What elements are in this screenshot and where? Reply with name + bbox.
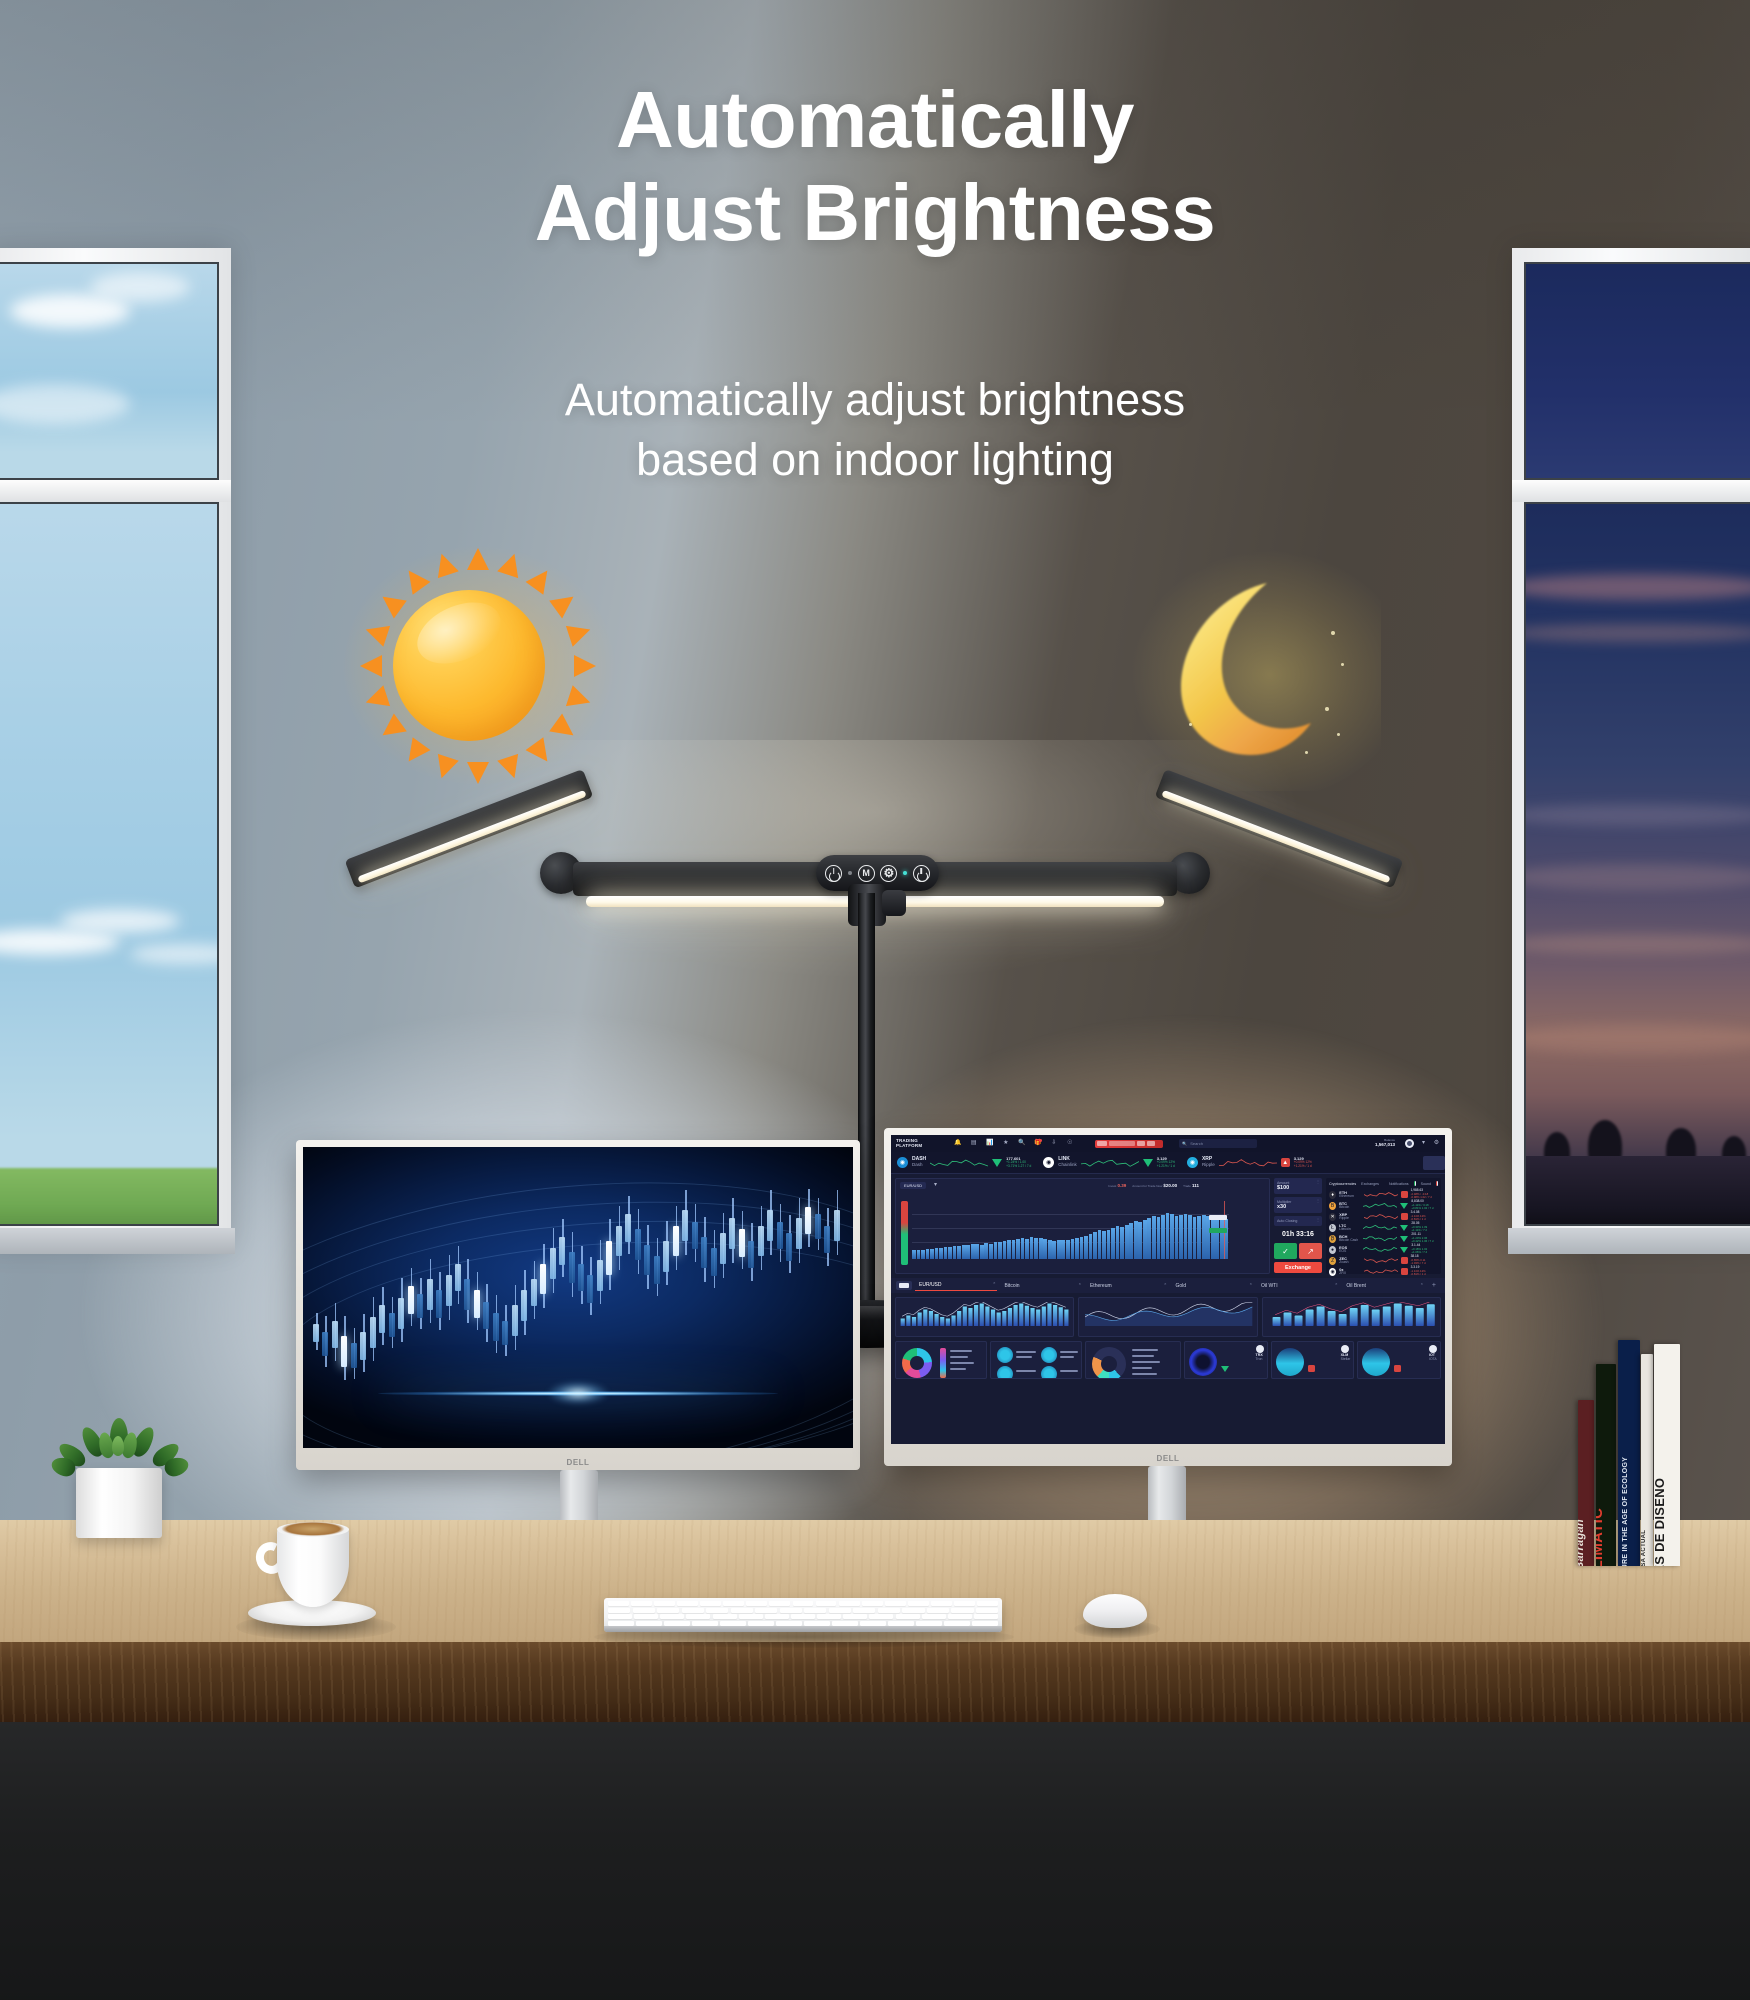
candle-body [758,1226,764,1257]
candle-body [739,1229,745,1257]
ticker-xrp[interactable]: ◉XRPRipple▲3.129+0.09% 12%+1.21% / 1 d [1181,1152,1318,1173]
keyboard-keys [608,1601,998,1625]
candle-body [701,1237,707,1268]
candle-body [625,1214,631,1242]
close-icon[interactable]: × [1079,1281,1081,1286]
widget-donut-breakdown [1085,1341,1181,1379]
keyboard-key[interactable] [976,1608,998,1613]
candle-body [370,1317,376,1348]
keyboard-key[interactable] [931,1601,952,1606]
area-bar [1184,1214,1188,1259]
area-bar [1089,1234,1093,1259]
sound-toggle[interactable] [1436,1181,1438,1186]
keyboard-key[interactable] [817,1614,841,1619]
close-icon[interactable]: × [993,1280,995,1285]
keyboard-key[interactable] [843,1614,867,1619]
candle-body [550,1248,556,1279]
add-tab-button[interactable]: + [1428,1282,1440,1289]
tab-bitcoin[interactable]: Bitcoin× [1000,1281,1082,1291]
coin-values: 1,988.63-2.48% / -0.18-0.98% 1.02 / 7 d [1411,1189,1438,1199]
area-bar [1170,1214,1174,1259]
amount-field[interactable]: ⋮ Amount $100 [1274,1178,1322,1194]
gear-icon[interactable]: ⚙ [1433,1140,1440,1147]
coin-sparkline [1364,1256,1398,1265]
area-bar [1052,1241,1056,1259]
list-item[interactable]: ◉0xZRX3.3.19-1.11% 12%-0.81% / 1 d [1329,1266,1438,1277]
coin-label: 0xZRX [1339,1268,1361,1276]
keyboard-key[interactable] [608,1608,630,1613]
info-icon: ⋮ [1316,1198,1320,1203]
candle-body [663,1241,669,1272]
area-bar [1138,1222,1142,1259]
area-bar [1166,1213,1170,1259]
plant-pot [76,1468,162,1538]
gift-icon[interactable]: 🎁 [1034,1140,1041,1147]
coin-icon: ✕ [1329,1213,1336,1221]
candle-body [635,1229,641,1260]
trend-alert-icon [1401,1257,1407,1264]
candle-body [559,1237,565,1265]
balance-value: 1,567,013 [1375,1143,1395,1148]
keyboard-key[interactable] [769,1601,790,1606]
area-bar [1179,1215,1183,1259]
keyboard-key[interactable] [633,1608,655,1613]
area-bar [980,1245,984,1259]
book-title: Luis Barragán [1578,1519,1586,1566]
candle-body [398,1298,404,1329]
widget-coin-iot: IOT IOTA [1357,1341,1441,1379]
ticker-label: LINKChainlink [1058,1157,1077,1167]
keyboard-key[interactable] [608,1601,629,1606]
candle-body [502,1321,508,1345]
keyboard-key[interactable] [731,1608,753,1613]
keyboard-key[interactable] [723,1601,744,1606]
area-bar [1193,1217,1197,1259]
coin-tile-xlm: XLM Stellar [1341,1345,1351,1361]
keyboard-key[interactable] [608,1614,632,1619]
chevron-down-icon[interactable]: ▾ [1420,1140,1427,1147]
area-bar [1175,1216,1179,1259]
product-marketing-scene: Automatically Adjust Brightness Automati… [0,0,1750,2000]
keyboard-key[interactable] [682,1608,704,1613]
area-bar [989,1244,993,1259]
area-bar [1003,1241,1007,1259]
coin-values: 3.4.08-1.11% 12%-0.81% / 1 d [1411,1211,1438,1221]
coin-values: 38.18-0.65% 0.11-1.03% / 7 d [1411,1255,1438,1265]
keyboard-key[interactable] [878,1608,900,1613]
area-bar [1075,1238,1079,1259]
keyboard-key[interactable] [839,1601,860,1606]
area-bar [962,1245,966,1259]
area-bar [930,1249,934,1259]
candle-body [796,1218,802,1249]
chart-stat-1-label: Invest [1108,1184,1116,1188]
notifications-toggle[interactable] [1414,1181,1416,1186]
candle-body [824,1226,830,1254]
area-bar [957,1246,961,1259]
coin-sparkline [1364,1267,1398,1276]
candle-body [408,1286,414,1314]
app-logo[interactable]: TRADING PLATFORM [896,1139,922,1148]
area-bar [953,1246,957,1259]
keyboard-key[interactable] [631,1601,652,1606]
autoclosing-label: Auto Closing [1277,1219,1319,1223]
coin-name: Tron [1256,1357,1264,1361]
chart-stat-1-value: 0.39 [1117,1183,1126,1188]
tab-oil-brent[interactable]: Oil Brent× [1342,1281,1424,1291]
dusk-ground [1524,1156,1750,1226]
candle-body [446,1275,452,1306]
area-bar [971,1244,975,1259]
chart-icon[interactable]: 📊 [986,1140,993,1147]
candle-body [805,1207,811,1235]
coin-icon: ◉ [1329,1268,1336,1276]
close-icon[interactable]: × [1421,1281,1423,1286]
widget-coin-xlm: XLM Stellar [1271,1341,1355,1379]
tab-oil-wti[interactable]: Oil WTI× [1257,1281,1339,1291]
trend-alert-icon [1401,1213,1407,1220]
close-icon[interactable]: × [1164,1281,1166,1286]
keyboard-key[interactable] [954,1601,975,1606]
area-bar [1016,1239,1020,1259]
star-icon[interactable]: ★ [1002,1140,1009,1147]
buy-button[interactable]: ✓ [1274,1243,1297,1259]
keyboard-key[interactable] [896,1614,920,1619]
widget-line-chart [1078,1297,1257,1337]
keyboard-key[interactable] [780,1608,802,1613]
keyboard-key[interactable] [686,1614,710,1619]
area-bar [1111,1228,1115,1259]
candle-body [455,1264,461,1292]
led-indicator-2 [903,871,907,875]
tab-cryptocurrencies[interactable]: Cryptocurrencies [1329,1182,1356,1186]
coin-label: LTCLitecoin [1339,1224,1360,1232]
keyboard-base [604,1626,1002,1632]
keyboard-key[interactable] [862,1601,883,1606]
close-icon[interactable]: × [1250,1281,1252,1286]
list-item[interactable]: ●EOSEOS3.1.44+0.18% 1.02+1.06% / 7 d [1329,1244,1438,1255]
keyboard-key[interactable] [885,1601,906,1606]
candle-body [767,1210,773,1241]
window-sill-left [0,1228,235,1254]
chart-stat-2-label: Amount for Trade Now [1132,1184,1162,1188]
coin-icon: Z [1329,1257,1336,1265]
coin-tile-iot: IOT IOTA [1429,1345,1437,1361]
sell-button[interactable]: ↗ [1299,1243,1322,1259]
area-bar [975,1244,979,1259]
autoclosing-field[interactable]: ⋮ Auto Closing [1274,1216,1322,1226]
keyboard-key[interactable] [853,1608,875,1613]
ticker-sparkline [1081,1156,1139,1170]
book-spine: INTERIORES DE DISEÑO [1654,1344,1680,1566]
trend-down-icon [1143,1159,1153,1167]
book-spine: LA CASA ACTUAL [1641,1354,1653,1566]
gear-icon[interactable] [880,865,897,882]
coin-icon: B [1329,1202,1336,1210]
keyboard-key[interactable] [902,1608,924,1613]
candlestick-wallpaper [303,1147,853,1448]
widget-circle-stats [990,1341,1082,1379]
ticker-link[interactable]: ◉LINKChainlink3.129+0.09% 12%+1.21% / 1 … [1037,1152,1181,1173]
area-bar [1116,1226,1120,1259]
area-bar [994,1242,998,1259]
notifications-label: Notifications [1389,1182,1409,1186]
area-bar [917,1250,921,1260]
keyboard-key[interactable] [908,1601,929,1606]
keyboard-key[interactable] [706,1608,728,1613]
area-bar [1057,1240,1061,1259]
candle-body [654,1256,660,1284]
coin-sparkline [1364,1190,1398,1199]
trade-buttons: ✓ ↗ [1274,1243,1322,1259]
promo-banner[interactable] [1095,1140,1163,1148]
ticker-values: 3.129+0.09% 12%+1.21% / 1 d [1294,1157,1312,1169]
area-bar [1061,1240,1065,1259]
candle-body [748,1241,754,1269]
tab-ethereum[interactable]: Ethereum× [1086,1281,1168,1291]
area-bar [1093,1232,1097,1259]
area-bar [1211,1218,1215,1259]
chart-stat-2-value: $20.00 [1163,1183,1177,1188]
candle-body [815,1214,821,1238]
chart-header: EUR/USD ▾ Invest 0.39 Amount for Trade N… [896,1179,1269,1192]
monitor-left-screen [303,1147,853,1448]
area-bar [1007,1240,1011,1259]
keyboard-key[interactable] [869,1614,893,1619]
candle-body [569,1252,575,1283]
coin-label: BTCBitcoin [1339,1202,1360,1210]
list-item[interactable]: ✕XRPRipple3.4.08-1.11% 12%-0.81% / 1 d [1329,1211,1438,1222]
monitor-left: DELL [296,1140,860,1470]
mode-button[interactable]: M [858,865,875,882]
coin-icon [1341,1345,1349,1353]
coin-label: EOSEOS [1339,1246,1360,1254]
book-title: LA CASA ACTUAL [1641,1530,1647,1566]
keyboard-key[interactable] [746,1601,767,1606]
keyboard-key[interactable] [804,1608,826,1613]
widget-row-summary: TRX Tron XLM Stellar [891,1341,1445,1383]
coin-sparkline [1363,1234,1397,1243]
area-bar [1048,1240,1052,1259]
tab-label: Bitcoin [1004,1283,1019,1289]
avatar[interactable] [1405,1139,1414,1148]
candle-body [606,1241,612,1275]
list-item[interactable]: ŁLTCLitecoin28.05+0.33% 1.09+1.11% / 7 d [1329,1222,1438,1233]
list-icon[interactable]: ▤ [970,1140,977,1147]
ticker-sparkline [930,1156,988,1170]
search-icon-small: 🔍 [1182,1141,1187,1146]
area-bar [1021,1238,1025,1259]
info-icon: ⋮ [1316,1179,1320,1184]
list-item[interactable]: ₿BCHBitcoin Cash201.11+1.20% 2.06+0.42% … [1329,1233,1438,1244]
tab-eur-usd[interactable]: EUR/USD× [915,1280,997,1291]
coin-label: ZECZcash [1339,1257,1361,1265]
tab-exchanges[interactable]: Exchanges [1361,1182,1379,1186]
list-item[interactable]: BBTCBitcoin8,838.00+1.11% / 3.18+0.81% 1… [1329,1200,1438,1211]
area-bar [948,1247,952,1259]
coin-label: ETHEthereum [1339,1191,1361,1199]
candle-body [777,1222,783,1250]
price-gauge [901,1201,908,1265]
candle-body [578,1264,584,1292]
crypto-rows: ♦ETHEthereum1,988.63-2.48% / -0.18-0.98%… [1329,1189,1438,1277]
area-bar [1152,1216,1156,1259]
candle-body [322,1332,328,1356]
ticker-label: DASHDash [912,1157,926,1167]
monitor-right-screen: TRADING PLATFORM 🔔 ▤ 📊 ★ 🔍 🎁 ⇩ ☉ [891,1135,1445,1444]
widget-bar-line-chart [895,1297,1074,1337]
candle-body [436,1290,442,1318]
area-bar [984,1243,988,1259]
download-icon[interactable]: ⇩ [1050,1140,1057,1147]
tab-label: Oil WTI [1261,1283,1278,1289]
keyboard-key[interactable] [739,1614,763,1619]
keyboard-key[interactable] [974,1614,998,1619]
keyboard-key[interactable] [713,1614,737,1619]
lamp-adjust-knob[interactable] [882,890,906,916]
keyboard-key[interactable] [829,1608,851,1613]
tab-label: EUR/USD [919,1282,942,1288]
candle-body [379,1305,385,1333]
power-button[interactable] [825,865,842,882]
book-title: BIOCLIMATIC [1596,1508,1606,1566]
bell-icon[interactable]: 🔔 [954,1140,961,1147]
keyboard-key[interactable] [677,1601,698,1606]
area-bar [1102,1231,1106,1259]
candle-body [464,1279,470,1310]
area-bar [1143,1220,1147,1259]
tab-gold[interactable]: Gold× [1171,1281,1253,1291]
coin-icon: ◉ [897,1157,908,1168]
keyboard-key[interactable] [657,1608,679,1613]
keyboard-key[interactable] [660,1614,684,1619]
area-bar [1039,1238,1043,1259]
trade-side-panel: ⋮ Amount $100 ⋮ Multiplier x30 ⋮ Auto Cl… [1274,1178,1322,1274]
chart-pair[interactable]: EUR/USD [900,1182,926,1189]
area-bar [1034,1238,1038,1259]
candle-body [587,1275,593,1303]
coin-icon: ◉ [1187,1157,1198,1168]
led-desk-lamp: M [0,0,1750,1100]
mouse[interactable] [1083,1594,1147,1628]
area-bar [1025,1239,1029,1259]
keyboard-key[interactable] [927,1608,949,1613]
area-bar [1197,1216,1201,1259]
widget-row-charts [891,1293,1445,1341]
keyboard-key[interactable] [922,1614,946,1619]
area-bar [921,1250,925,1259]
keyboard-key[interactable] [654,1601,675,1606]
candle-body [644,1245,650,1276]
price-tag-green [1209,1228,1227,1233]
area-bar [1206,1216,1210,1259]
chart-stat-2: Amount for Trade Now $20.00 [1132,1183,1177,1189]
trend-up-icon: ▲ [1281,1158,1290,1167]
sound-label: Sound [1421,1182,1431,1186]
countdown-timer: 01h 33:16 [1274,1229,1322,1240]
app-header: TRADING PLATFORM 🔔 ▤ 📊 ★ 🔍 🎁 ⇩ ☉ [891,1135,1445,1152]
area-bar [1188,1215,1192,1259]
candle-body [616,1226,622,1257]
exchange-button[interactable]: Exchange [1274,1262,1322,1273]
coin-values: 8,838.00+1.11% / 3.18+0.81% 1.02 / 7 d [1411,1200,1438,1210]
area-bar [1215,1217,1219,1259]
keyboard-key[interactable] [634,1614,658,1619]
candle-body [341,1336,347,1367]
list-item[interactable]: ZZECZcash38.18-0.65% 0.11-1.03% / 7 d [1329,1255,1438,1266]
chevron-down-icon[interactable]: ▾ [932,1182,939,1189]
help-icon[interactable]: ☉ [1066,1140,1073,1147]
close-icon[interactable]: × [1335,1281,1337,1286]
keyboard-key[interactable] [765,1614,789,1619]
area-bar [935,1248,939,1259]
keyboard-key[interactable] [755,1608,777,1613]
area-bar [1084,1236,1088,1259]
search-input[interactable]: 🔍 Search [1179,1139,1257,1148]
app-body: EUR/USD ▾ Invest 0.39 Amount for Trade N… [891,1174,1445,1278]
led-indicator-1 [848,871,852,875]
candle-body [540,1264,546,1295]
candle-body [786,1233,792,1261]
ticker-sparkline [1219,1156,1277,1170]
coin-icon: ◉ [1043,1157,1054,1168]
keyboard-key[interactable] [951,1608,973,1613]
area-bar [1202,1215,1206,1259]
ticker-more-button[interactable] [1423,1156,1445,1170]
list-item[interactable]: ♦ETHEthereum1,988.63-2.48% / -0.18-0.98%… [1329,1189,1438,1200]
balance-display: Balance 1,567,013 [1375,1139,1395,1147]
trading-platform-app: TRADING PLATFORM 🔔 ▤ 📊 ★ 🔍 🎁 ⇩ ☉ [891,1135,1445,1444]
candle-body [512,1305,518,1336]
keyboard-key[interactable] [948,1614,972,1619]
keyboard-key[interactable] [793,1601,814,1606]
candle-body [493,1313,499,1341]
candle-body [313,1324,319,1342]
layout-icon[interactable] [896,1281,912,1290]
area-bar [1161,1215,1165,1259]
coin-sparkline [1363,1223,1397,1232]
multiplier-field[interactable]: ⋮ Multiplier x30 [1274,1197,1322,1213]
coin-values: 28.05+0.33% 1.09+1.11% / 7 d [1411,1222,1438,1232]
ticker-dash[interactable]: ◉DASHDash177.601+1.24% / 1.00+3.71% 1.27… [891,1152,1037,1173]
area-bar [1120,1227,1124,1259]
search-placeholder: Search [1190,1141,1203,1146]
keyboard-key[interactable] [977,1601,998,1606]
area-bar [926,1249,930,1259]
power-button-secondary[interactable] [913,865,930,882]
candle-body [711,1248,717,1276]
instrument-tabs: EUR/USD×Bitcoin×Ethereum×Gold×Oil WTI×Oi… [891,1278,1445,1293]
keyboard-key[interactable] [700,1601,721,1606]
candle-body [427,1279,433,1310]
area-bar [1012,1240,1016,1259]
chart-stat-3: Trade 111 [1183,1183,1199,1189]
keyboard-key[interactable] [816,1601,837,1606]
tab-label: Oil Brent [1346,1283,1365,1289]
chart-stat-1: Invest 0.39 [1108,1183,1126,1189]
keyboard[interactable] [604,1598,1002,1632]
coin-icon: ● [1329,1246,1336,1254]
tab-label: Gold [1175,1283,1186,1289]
coin-label: XRPRipple [1339,1213,1361,1221]
candle-body [834,1210,840,1241]
book-spine: BIOCLIMATIC [1596,1364,1616,1566]
screen-flare-core [548,1382,608,1404]
candle-body [417,1294,423,1318]
coin-icon: ₿ [1329,1235,1336,1243]
keyboard-key[interactable] [791,1614,815,1619]
search-icon[interactable]: 🔍 [1018,1140,1025,1147]
